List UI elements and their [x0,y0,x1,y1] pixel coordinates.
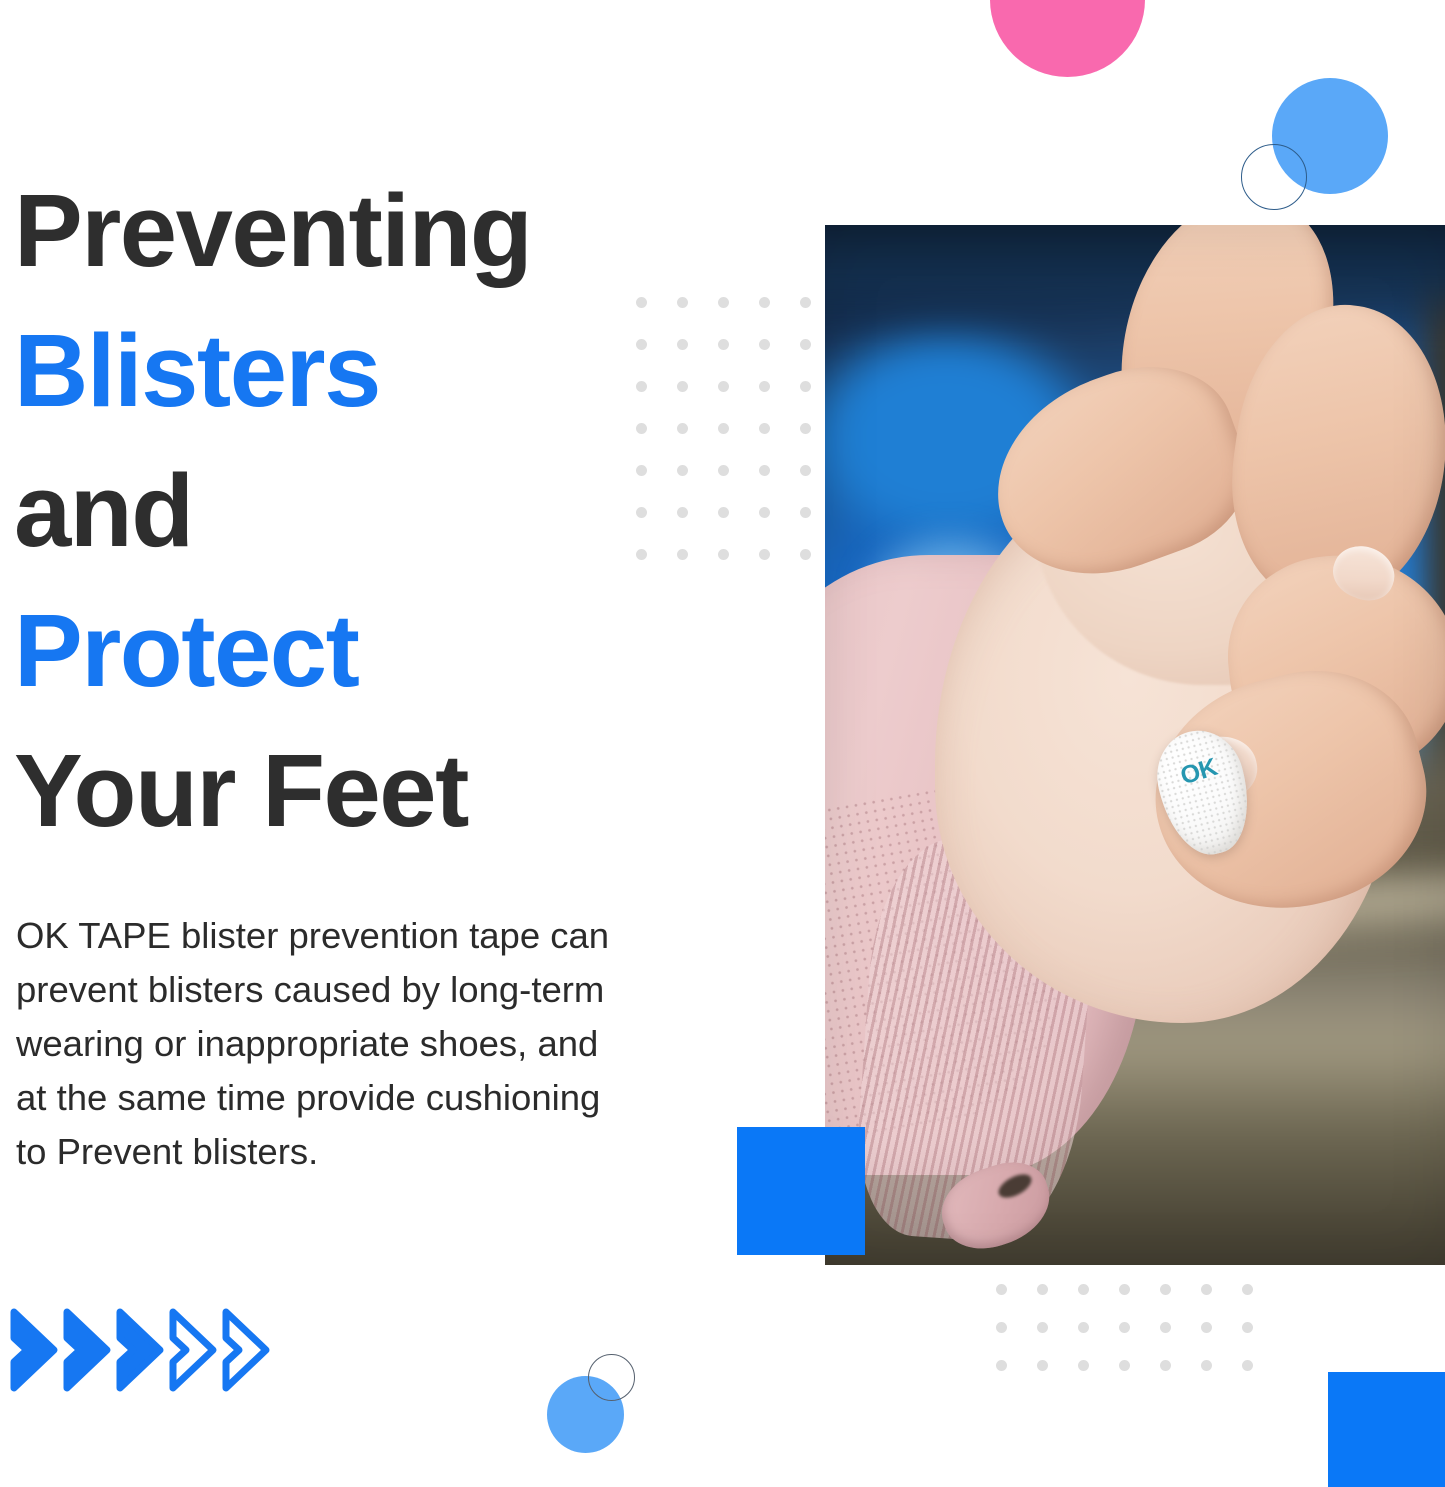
product-photo: OK [825,225,1445,1265]
grid-dot [1119,1284,1130,1295]
chevron-arrows-decoration [8,1300,273,1400]
page-title-line-4: Protect [14,581,804,721]
dot-grid-lower [996,1284,1253,1371]
page-title-line-2: Blisters [14,301,804,441]
page-title-line-5: Your Feet [14,721,804,861]
grid-dot [1201,1284,1212,1295]
grid-dot [1160,1322,1171,1333]
chevron-icon-1 [14,1312,54,1388]
grid-dot [996,1284,1007,1295]
grid-dot [1037,1284,1048,1295]
blue-square-decoration-mid [737,1127,865,1255]
grid-dot [1037,1322,1048,1333]
grid-dot [996,1360,1007,1371]
promo-banner: PreventingBlistersandProtectYour Feet OK… [0,0,1445,1487]
grid-dot [1119,1322,1130,1333]
chevron-icon-4 [173,1312,213,1388]
pink-circle-decoration [990,0,1145,77]
grid-dot [996,1322,1007,1333]
grid-dot [1160,1284,1171,1295]
grid-dot [1242,1284,1253,1295]
chevron-icon-3 [120,1312,160,1388]
grid-dot [1242,1360,1253,1371]
grid-dot [1119,1360,1130,1371]
page-title-line-3: and [14,441,804,581]
outline-circle-decoration-bottom [588,1354,635,1401]
chevron-icon-5 [226,1312,266,1388]
outline-circle-decoration-top [1241,144,1307,210]
grid-dot [1078,1322,1089,1333]
grid-dot [1201,1322,1212,1333]
grid-dot [1078,1360,1089,1371]
chevron-group-icon [8,1300,273,1400]
blue-square-decoration-bottom-right [1328,1372,1445,1487]
page-title-line-1: Preventing [14,161,804,301]
grid-dot [1037,1360,1048,1371]
grid-dot [1078,1284,1089,1295]
grid-dot [1201,1360,1212,1371]
chevron-icon-2 [67,1312,107,1388]
grid-dot [1160,1360,1171,1371]
grid-dot [1242,1322,1253,1333]
page-title: PreventingBlistersandProtectYour Feet [14,161,804,861]
description-text: OK TAPE blister prevention tape can prev… [16,909,636,1179]
